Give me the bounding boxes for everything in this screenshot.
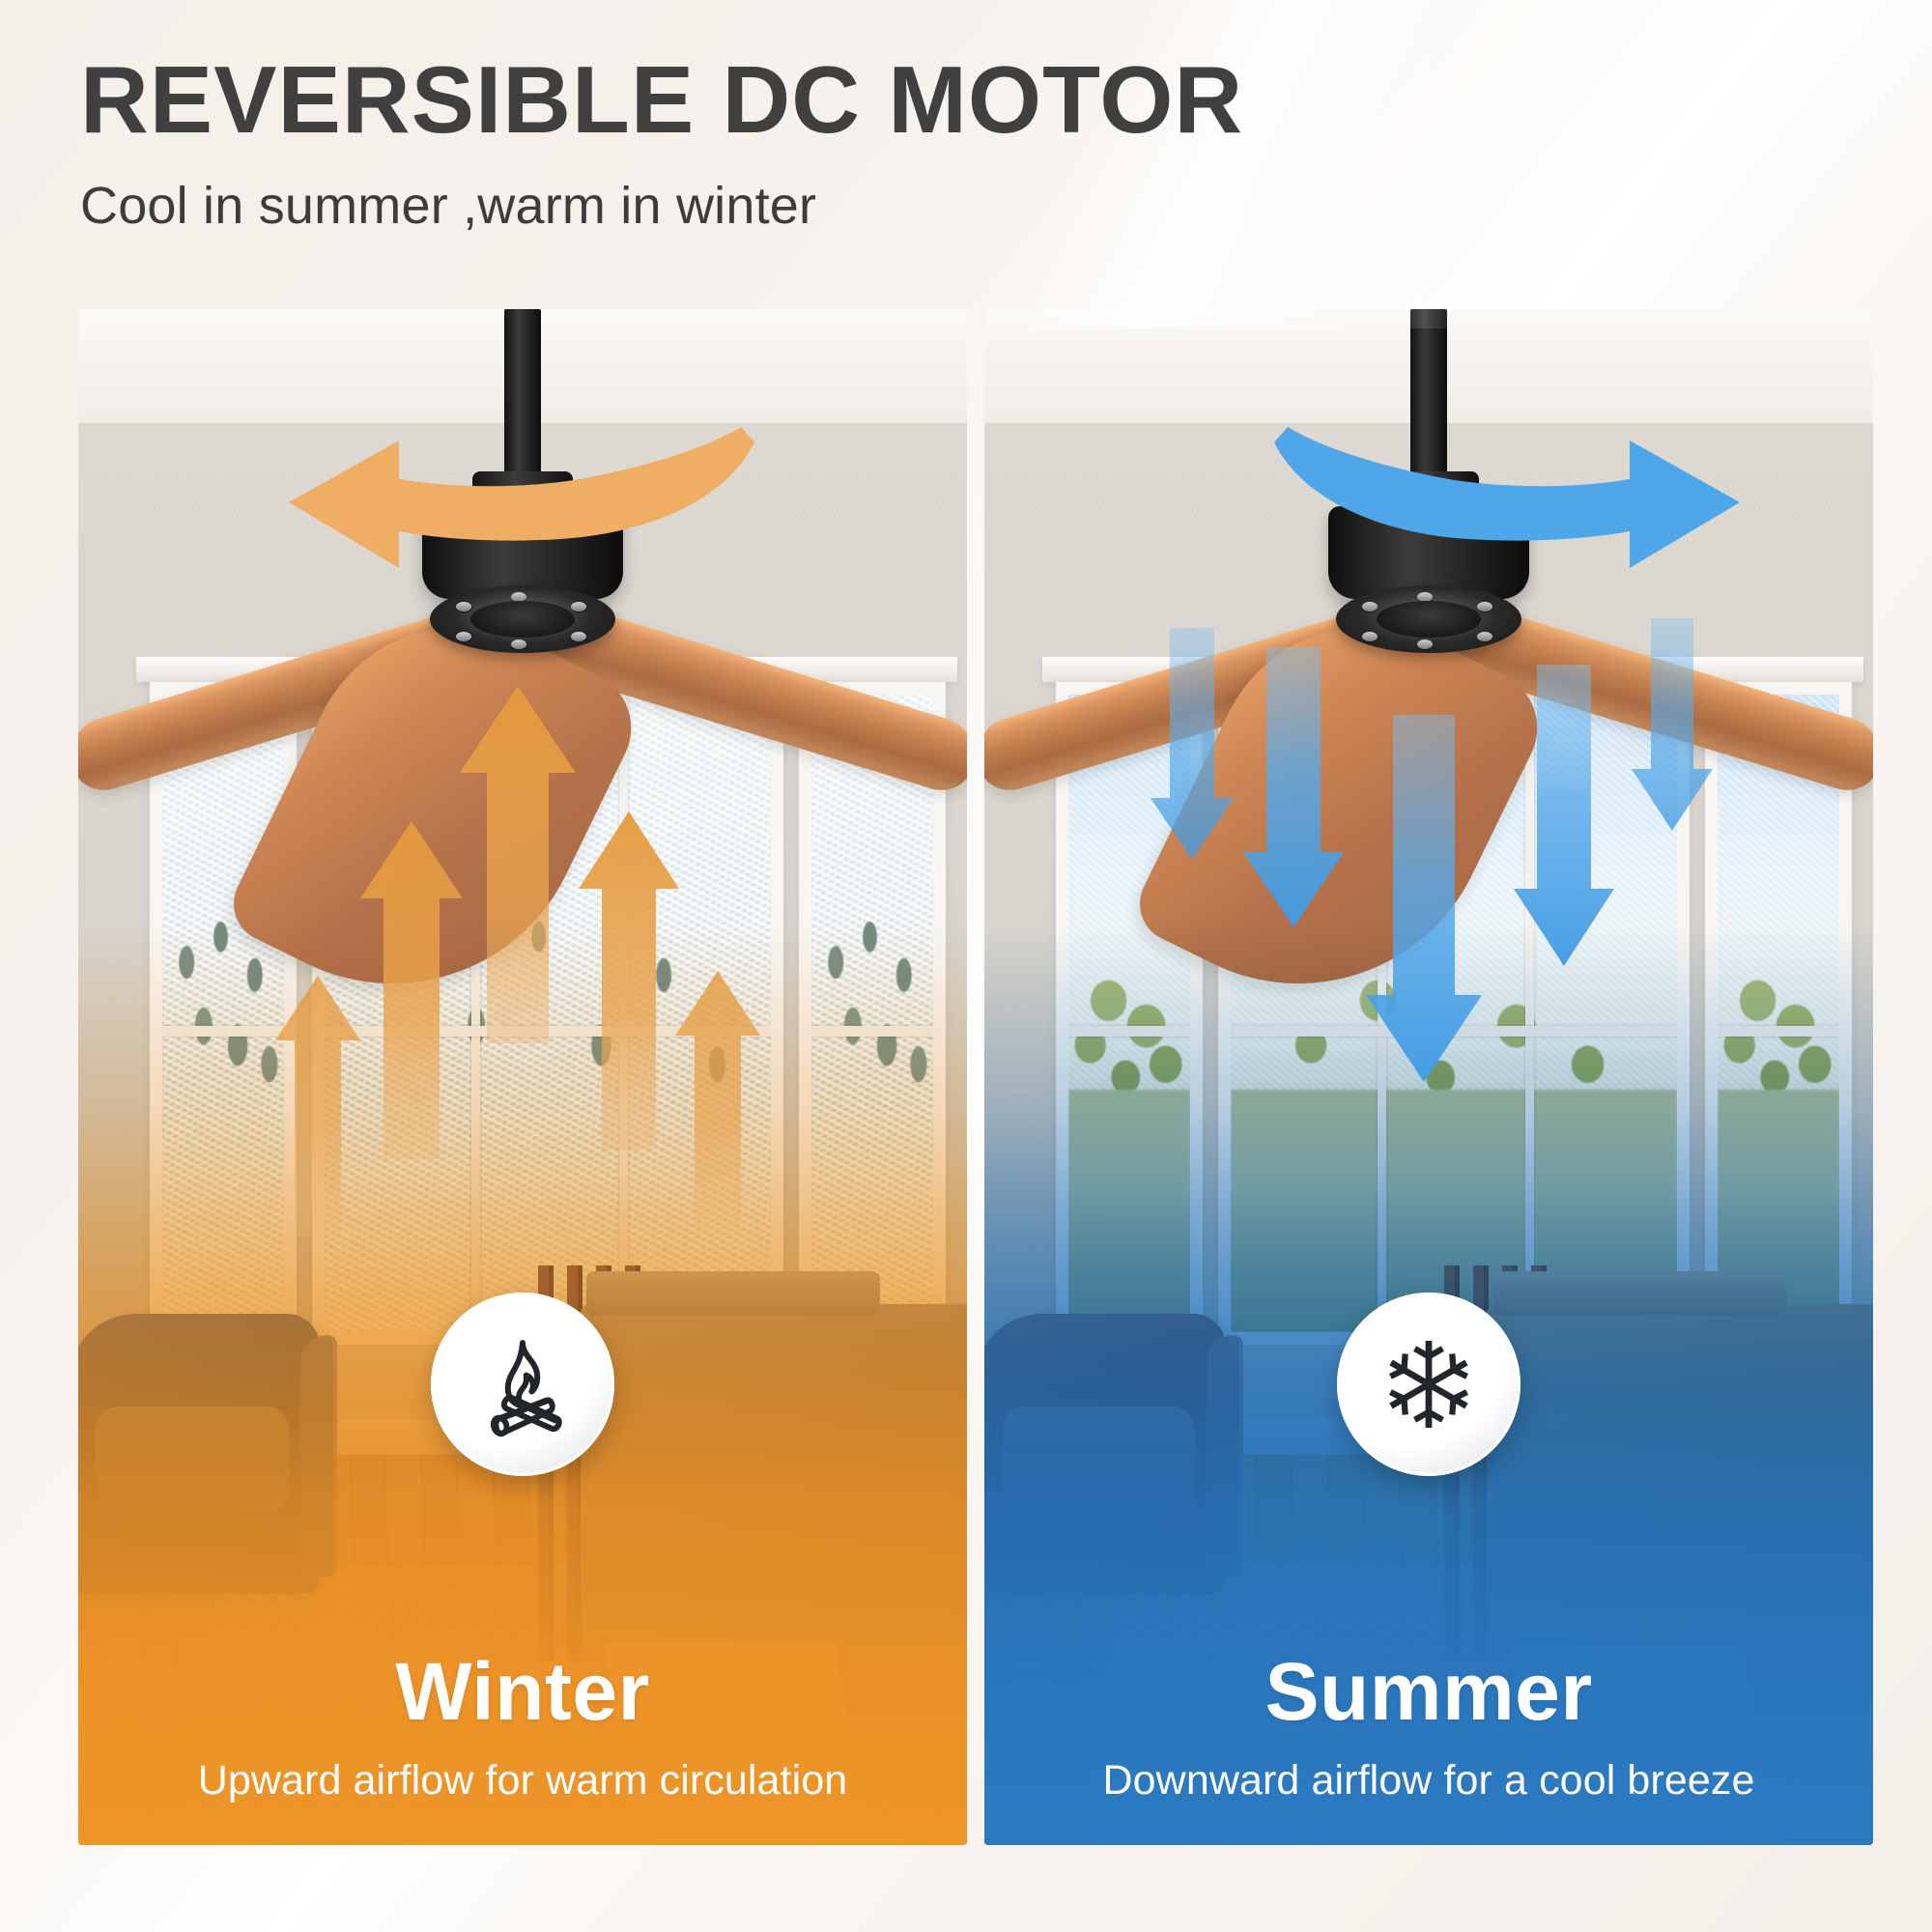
muntin-horizontal — [1718, 1026, 1839, 1037]
hub-screw — [1477, 602, 1492, 611]
header: REVERSIBLE DC MOTOR Cool in summer ,warm… — [80, 50, 1722, 236]
rotation-arrow-counterclockwise-icon — [271, 425, 774, 599]
hub-screw — [456, 602, 471, 611]
rotation-arrow-clockwise-icon — [1255, 425, 1757, 599]
panel-winter[interactable]: Winter Upward airflow for warm circulati… — [78, 309, 967, 1845]
caption-winter: Winter Upward airflow for warm circulati… — [78, 1651, 967, 1804]
hub-screw — [571, 632, 586, 641]
window-left — [150, 682, 297, 1345]
season-label: Winter — [78, 1651, 967, 1732]
page-title: REVERSIBLE DC MOTOR — [80, 50, 1722, 151]
hub-screw — [1417, 639, 1433, 649]
fan-hub-center — [1377, 601, 1481, 638]
hub-screw — [1477, 632, 1492, 641]
muntin-vertical — [619, 695, 628, 1332]
caption-summer: Summer Downward airflow for a cool breez… — [984, 1651, 1873, 1804]
muntin-vertical — [1525, 695, 1534, 1332]
badge-campfire[interactable] — [431, 1293, 614, 1476]
muntin-horizontal — [811, 1026, 933, 1037]
muntin-horizontal — [1068, 1026, 1190, 1037]
comparison-panels: Winter Upward airflow for warm circulati… — [0, 309, 1932, 1893]
season-description: Upward airflow for warm circulation — [78, 1757, 967, 1804]
fan-hub-center — [470, 601, 575, 638]
hub-screw — [1362, 632, 1378, 641]
hub-screw — [456, 632, 471, 641]
muntin-horizontal — [325, 1026, 771, 1037]
muntin-horizontal — [1231, 1026, 1677, 1037]
campfire-icon — [469, 1330, 577, 1438]
panel-summer[interactable]: Summer Downward airflow for a cool breez… — [984, 309, 1873, 1845]
page-subtitle: Cool in summer ,warm in winter — [80, 176, 1722, 236]
armchair — [78, 1314, 320, 1594]
badge-snowflake[interactable] — [1337, 1293, 1520, 1476]
snowflake-icon — [1377, 1332, 1481, 1436]
muntin-horizontal — [162, 1026, 284, 1037]
window-glass-summer — [1718, 695, 1839, 1332]
hub-screw — [571, 602, 586, 611]
season-description: Downward airflow for a cool breeze — [984, 1757, 1873, 1804]
window-glass-summer — [1068, 695, 1190, 1332]
season-label: Summer — [984, 1651, 1873, 1732]
window-glass-snow — [162, 695, 284, 1332]
window-glass-snow — [811, 695, 933, 1332]
infographic-canvas: REVERSIBLE DC MOTOR Cool in summer ,warm… — [0, 0, 1932, 1932]
hub-screw — [1362, 602, 1378, 611]
hub-screw — [511, 639, 526, 649]
window-left — [1056, 682, 1203, 1345]
armchair — [984, 1314, 1226, 1594]
